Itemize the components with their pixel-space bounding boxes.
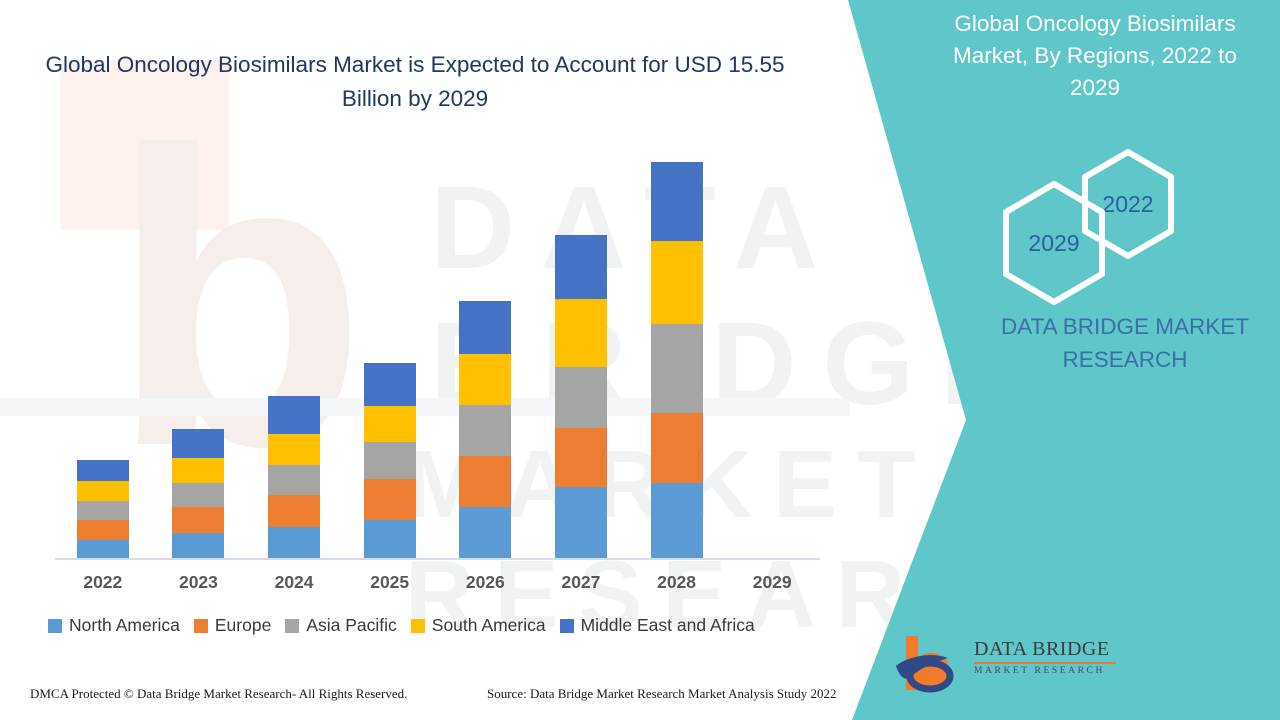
x-axis-labels: 20222023202420252026202720282029 xyxy=(55,572,820,602)
stacked-bar[interactable] xyxy=(459,301,511,560)
x-axis-tick-2024: 2024 xyxy=(246,572,342,593)
bar-group xyxy=(438,301,534,560)
stacked-bar[interactable] xyxy=(172,429,224,560)
bar-group xyxy=(151,429,247,560)
panel-title: Global Oncology Biosimilars Market, By R… xyxy=(930,8,1260,104)
legend-swatch-icon xyxy=(48,619,62,633)
bar-segment[interactable] xyxy=(268,495,320,527)
bar-segment[interactable] xyxy=(77,520,129,539)
bar-segment[interactable] xyxy=(268,527,320,560)
company-logo: DATA BRIDGE MARKET RESEARCH xyxy=(892,632,1122,694)
bar-segment[interactable] xyxy=(555,299,607,367)
bar-segment[interactable] xyxy=(364,363,416,407)
legend-label: Asia Pacific xyxy=(306,615,396,636)
chart-legend: North AmericaEuropeAsia PacificSouth Ame… xyxy=(48,615,828,636)
x-axis-line xyxy=(55,558,820,560)
bar-group xyxy=(629,162,725,560)
x-axis-tick-2027: 2027 xyxy=(533,572,629,593)
logo-mark-icon xyxy=(892,632,972,694)
bar-group xyxy=(533,235,629,560)
x-axis-tick-2023: 2023 xyxy=(150,572,246,593)
page-title: Global Oncology Biosimilars Market is Ex… xyxy=(40,48,790,116)
x-axis-tick-2026: 2026 xyxy=(437,572,533,593)
bar-segment[interactable] xyxy=(651,324,703,412)
bar-segment[interactable] xyxy=(268,434,320,465)
bar-segment[interactable] xyxy=(555,235,607,299)
bar-group xyxy=(342,363,438,560)
bar-segment[interactable] xyxy=(77,481,129,502)
bar-segment[interactable] xyxy=(172,483,224,507)
bar-segment[interactable] xyxy=(459,456,511,507)
stacked-bar[interactable] xyxy=(651,162,703,560)
bar-group xyxy=(246,396,342,560)
legend-item[interactable]: Asia Pacific xyxy=(285,615,396,636)
legend-swatch-icon xyxy=(285,619,299,633)
bar-segment[interactable] xyxy=(364,442,416,479)
legend-item[interactable]: Europe xyxy=(194,615,271,636)
bar-segment[interactable] xyxy=(651,241,703,324)
logo-text: DATA BRIDGE MARKET RESEARCH xyxy=(974,638,1122,676)
bar-segment[interactable] xyxy=(459,507,511,560)
bar-segment[interactable] xyxy=(364,479,416,520)
bar-segment[interactable] xyxy=(651,162,703,241)
x-axis-tick-2025: 2025 xyxy=(342,572,438,593)
x-axis-tick-2029: 2029 xyxy=(724,572,820,593)
bar-segment[interactable] xyxy=(172,533,224,560)
bar-segment[interactable] xyxy=(172,458,224,484)
stacked-bar[interactable] xyxy=(555,235,607,560)
legend-swatch-icon xyxy=(560,619,574,633)
bar-segment[interactable] xyxy=(555,428,607,487)
brand-name: DATA BRIDGE MARKET RESEARCH xyxy=(975,310,1275,376)
bar-segment[interactable] xyxy=(555,367,607,429)
legend-label: Europe xyxy=(215,615,271,636)
footer-copyright: DMCA Protected © Data Bridge Market Rese… xyxy=(30,686,407,702)
bar-segment[interactable] xyxy=(459,405,511,456)
legend-swatch-icon xyxy=(194,619,208,633)
bar-segment[interactable] xyxy=(172,429,224,457)
x-axis-tick-2028: 2028 xyxy=(629,572,725,593)
x-axis-tick-2022: 2022 xyxy=(55,572,151,593)
bar-segment[interactable] xyxy=(555,487,607,560)
bar-segment[interactable] xyxy=(268,396,320,434)
hexagon-label-2029: 2029 xyxy=(1028,230,1079,257)
stacked-bar[interactable] xyxy=(364,363,416,560)
footer-source: Source: Data Bridge Market Research Mark… xyxy=(487,686,836,702)
bar-segment[interactable] xyxy=(651,483,703,560)
legend-item[interactable]: North America xyxy=(48,615,180,636)
bar-segment[interactable] xyxy=(459,301,511,354)
legend-label: Middle East and Africa xyxy=(581,615,755,636)
bar-segment[interactable] xyxy=(172,507,224,533)
legend-swatch-icon xyxy=(411,619,425,633)
bar-segment[interactable] xyxy=(364,520,416,560)
hexagon-badge-2029: 2029 xyxy=(998,180,1110,306)
stacked-bar[interactable] xyxy=(268,396,320,560)
bar-segment[interactable] xyxy=(364,406,416,442)
bar-segment[interactable] xyxy=(77,460,129,481)
legend-item[interactable]: Middle East and Africa xyxy=(560,615,755,636)
logo-secondary-text: MARKET RESEARCH xyxy=(974,666,1122,676)
bar-chart-plot xyxy=(55,150,820,560)
logo-primary-text: DATA BRIDGE xyxy=(974,638,1122,660)
bar-segment[interactable] xyxy=(77,501,129,520)
stacked-bar[interactable] xyxy=(77,460,129,560)
legend-label: South America xyxy=(432,615,546,636)
logo-divider xyxy=(974,662,1116,664)
bar-segment[interactable] xyxy=(77,540,129,561)
bar-segment[interactable] xyxy=(268,465,320,494)
bar-segment[interactable] xyxy=(651,413,703,483)
legend-item[interactable]: South America xyxy=(411,615,546,636)
hexagon-label-2022: 2022 xyxy=(1102,191,1153,218)
bar-segment[interactable] xyxy=(459,354,511,405)
legend-label: North America xyxy=(69,615,180,636)
bar-group xyxy=(55,460,151,560)
infographic-root: b DATA BRIDGE MARKET RESEARCH Global Onc… xyxy=(0,0,1280,720)
